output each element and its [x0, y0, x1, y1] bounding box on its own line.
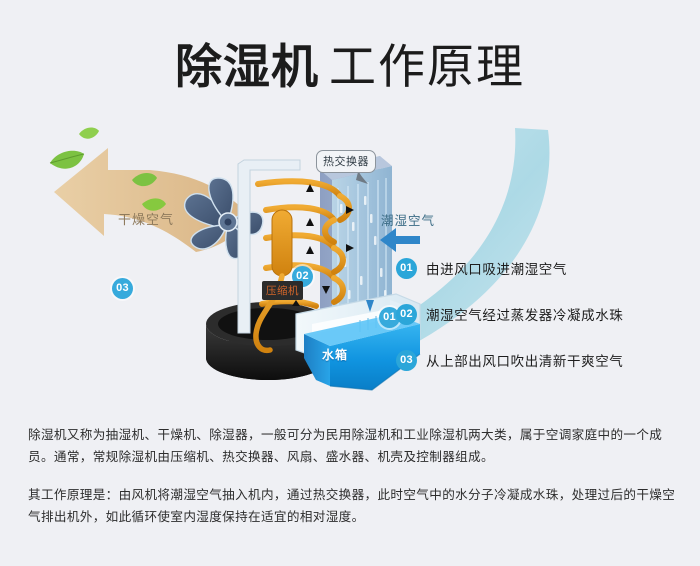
- page-title: 除湿机工作原理: [0, 28, 700, 97]
- legend-badge-02: 02: [396, 304, 417, 325]
- legend-text-03: 从上部出风口吹出清新干爽空气: [426, 350, 623, 370]
- infographic-page: 除湿机工作原理: [0, 0, 700, 566]
- body-paragraph-1: 除湿机又称为抽湿机、干燥机、除湿器，一般可分为民用除湿机和工业除湿机两大类，属于…: [28, 424, 676, 468]
- title-bold-part: 除湿机: [175, 40, 319, 93]
- diagram-badge-03: 03: [112, 278, 133, 299]
- water-tank-label: 水箱: [322, 346, 348, 363]
- legend-item-01: 01 由进风口吸进潮湿空气: [396, 255, 686, 281]
- title-light-part: 工作原理: [329, 40, 525, 93]
- legend-item-02: 02 潮湿空气经过蒸发器冷凝成水珠: [396, 301, 686, 327]
- legend-badge-01: 01: [396, 258, 417, 279]
- compressor-label: 压缩机: [262, 281, 303, 300]
- legend-item-03: 03 从上部出风口吹出清新干爽空气: [396, 347, 686, 373]
- legend-badge-03: 03: [396, 350, 417, 371]
- legend-text-01: 由进风口吸进潮湿空气: [426, 258, 567, 278]
- dry-air-label: 干燥空气: [118, 213, 174, 226]
- body-copy: 除湿机又称为抽湿机、干燥机、除湿器，一般可分为民用除湿机和工业除湿机两大类，属于…: [28, 424, 676, 528]
- heat-exchanger-label: 热交换器: [316, 150, 376, 173]
- legend-list: 01 由进风口吸进潮湿空气 02 潮湿空气经过蒸发器冷凝成水珠 03 从上部出风…: [396, 255, 686, 393]
- body-paragraph-2: 其工作原理是：由风机将潮湿空气抽入机内，通过热交换器，此时空气中的水分子冷凝成水…: [28, 484, 676, 528]
- humid-air-label: 潮湿空气: [381, 215, 435, 228]
- legend-text-02: 潮湿空气经过蒸发器冷凝成水珠: [426, 304, 623, 324]
